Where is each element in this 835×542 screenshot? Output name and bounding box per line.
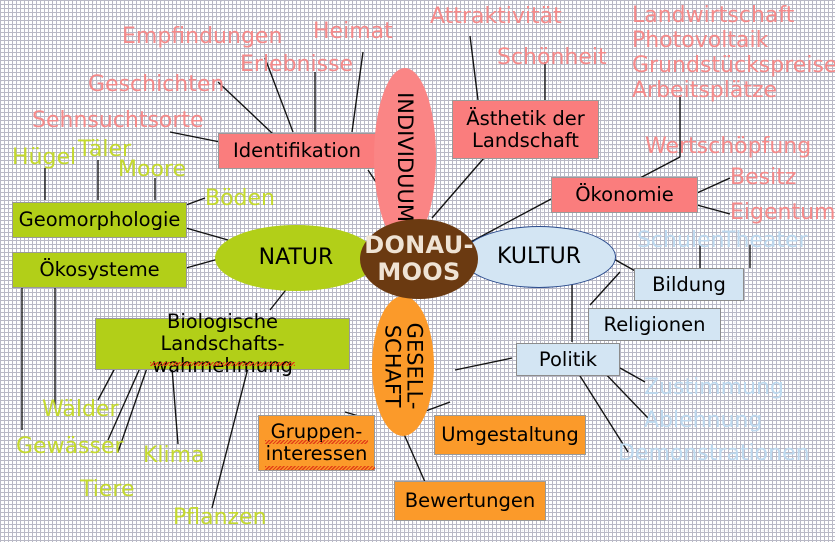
leaf-huegel[interactable]: Hügel	[12, 145, 76, 170]
leaf-wertschoepfung-label: Wertschöpfung	[645, 134, 811, 159]
leaf-demonstrationen-label: Demonstrationen	[618, 441, 810, 466]
leaf-waelder[interactable]: Wälder	[42, 397, 118, 422]
leaf-boeden[interactable]: Böden	[205, 186, 275, 211]
box-oekonomie-label: Ökonomie	[575, 184, 674, 206]
leaf-waelder-label: Wälder	[42, 397, 118, 422]
leaf-photovoltaik[interactable]: Photovoltaik	[632, 28, 768, 53]
leaf-theater[interactable]: Theater	[722, 228, 808, 253]
box-bildung[interactable]: Bildung	[634, 268, 744, 301]
leaf-klima[interactable]: Klima	[143, 443, 205, 468]
box-religionen-label: Religionen	[604, 314, 706, 336]
box-geomorphologie-label: Geomorphologie	[19, 209, 181, 231]
leaf-ablehnung[interactable]: Ablehnung	[644, 408, 762, 433]
branch-kultur[interactable]: KULTUR	[462, 226, 616, 288]
leaf-arbeitsplaetze-label: Arbeitsplätze	[632, 78, 777, 103]
box-identifikation-label: Identifikation	[233, 140, 361, 162]
leaf-sehnsuchtsorte-label: Sehnsuchtsorte	[32, 108, 204, 133]
box-umgestaltung-label: Umgestaltung	[441, 424, 579, 446]
leaf-heimat-label: Heimat	[313, 19, 393, 44]
leaf-theater-label: Theater	[722, 228, 808, 253]
box-biologische-label: Biologische Landschafts- wahrnehmung	[102, 311, 343, 376]
branch-gesellschaft[interactable]: GESELL- SCHAFT	[372, 296, 434, 436]
leaf-besitz[interactable]: Besitz	[730, 165, 796, 190]
leaf-schoenheit-label: Schönheit	[497, 45, 607, 70]
leaf-attraktivitaet[interactable]: Attraktivität	[430, 4, 562, 29]
box-umgestaltung[interactable]: Umgestaltung	[434, 415, 586, 455]
box-bewertungen-label: Bewertungen	[405, 490, 535, 512]
mindmap-canvas: INDIVIDUUM GESELL- SCHAFT NATUR KULTUR D…	[0, 0, 835, 542]
leaf-gewaesser[interactable]: Gewässer	[16, 434, 124, 459]
branch-natur[interactable]: NATUR	[215, 225, 377, 291]
box-oekosysteme-label: Ökosysteme	[39, 259, 159, 281]
leaf-wertschoepfung[interactable]: Wertschöpfung	[645, 134, 811, 159]
leaf-besitz-label: Besitz	[730, 165, 796, 190]
leaf-schulen[interactable]: Schulen	[637, 228, 725, 253]
leaf-moore-label: Moore	[118, 157, 186, 182]
leaf-eigentum[interactable]: Eigentum	[730, 200, 835, 225]
leaf-landwirtschaft-label: Landwirtschaft	[632, 3, 794, 28]
box-identifikation[interactable]: Identifikation	[218, 133, 376, 169]
branch-natur-label: NATUR	[259, 246, 334, 271]
branch-individuum-label: INDIVIDUUM	[394, 92, 416, 222]
box-politik[interactable]: Politik	[516, 343, 620, 376]
leaf-grundstueckspreise[interactable]: Grundstückspreise	[632, 53, 835, 78]
leaf-klima-label: Klima	[143, 443, 205, 468]
leaf-eigentum-label: Eigentum	[730, 200, 835, 225]
leaf-demonstrationen[interactable]: Demonstrationen	[618, 441, 810, 466]
leaf-empfindungen[interactable]: Empfindungen	[122, 24, 282, 49]
box-politik-label: Politik	[539, 349, 597, 371]
leaf-huegel-label: Hügel	[12, 145, 76, 170]
spellcheck-underline-wahrnehmung	[150, 362, 295, 366]
box-aesthetik-der-landschaft[interactable]: Ästhetik der Landschaft	[452, 100, 599, 159]
leaf-erlebnisse[interactable]: Erlebnisse	[240, 52, 353, 77]
box-oekonomie[interactable]: Ökonomie	[551, 177, 698, 213]
leaf-boeden-label: Böden	[205, 186, 275, 211]
leaf-moore[interactable]: Moore	[118, 157, 186, 182]
leaf-arbeitsplaetze[interactable]: Arbeitsplätze	[632, 78, 777, 103]
box-bildung-label: Bildung	[652, 274, 726, 296]
spellcheck-underline-gruppen	[265, 440, 368, 444]
leaf-photovoltaik-label: Photovoltaik	[632, 28, 768, 53]
box-bewertungen[interactable]: Bewertungen	[394, 481, 546, 521]
leaf-tiere[interactable]: Tiere	[80, 477, 135, 502]
branch-kultur-label: KULTUR	[497, 245, 581, 270]
leaf-tiere-label: Tiere	[80, 477, 135, 502]
leaf-geschichten-label: Geschichten	[88, 72, 224, 97]
leaf-gewaesser-label: Gewässer	[16, 434, 124, 459]
leaf-zustimmung[interactable]: Zustimmung	[644, 375, 784, 400]
leaf-zustimmung-label: Zustimmung	[644, 375, 784, 400]
box-religionen[interactable]: Religionen	[588, 308, 721, 341]
leaf-schoenheit[interactable]: Schönheit	[497, 45, 607, 70]
leaf-geschichten[interactable]: Geschichten	[88, 72, 224, 97]
leaf-attraktivitaet-label: Attraktivität	[430, 4, 562, 29]
leaf-pflanzen[interactable]: Pflanzen	[173, 505, 267, 530]
leaf-grundstueckspreise-label: Grundstückspreise	[632, 53, 835, 78]
branch-gesellschaft-label: GESELL- SCHAFT	[381, 323, 425, 410]
leaf-schulen-label: Schulen	[637, 228, 725, 253]
leaf-erlebnisse-label: Erlebnisse	[240, 52, 353, 77]
leaf-pflanzen-label: Pflanzen	[173, 505, 267, 530]
box-oekosysteme[interactable]: Ökosysteme	[12, 252, 187, 288]
leaf-heimat[interactable]: Heimat	[313, 19, 393, 44]
box-geomorphologie[interactable]: Geomorphologie	[12, 202, 187, 238]
box-aesthetik-label: Ästhetik der Landschaft	[466, 108, 584, 152]
spellcheck-underline-interessen	[265, 466, 375, 470]
leaf-sehnsuchtsorte[interactable]: Sehnsuchtsorte	[32, 108, 204, 133]
leaf-ablehnung-label: Ablehnung	[644, 408, 762, 433]
center-node-donaumoos[interactable]: DONAU- MOOS	[360, 219, 478, 299]
leaf-empfindungen-label: Empfindungen	[122, 24, 282, 49]
center-node-label: DONAU- MOOS	[364, 232, 474, 286]
leaf-landwirtschaft[interactable]: Landwirtschaft	[632, 3, 794, 28]
